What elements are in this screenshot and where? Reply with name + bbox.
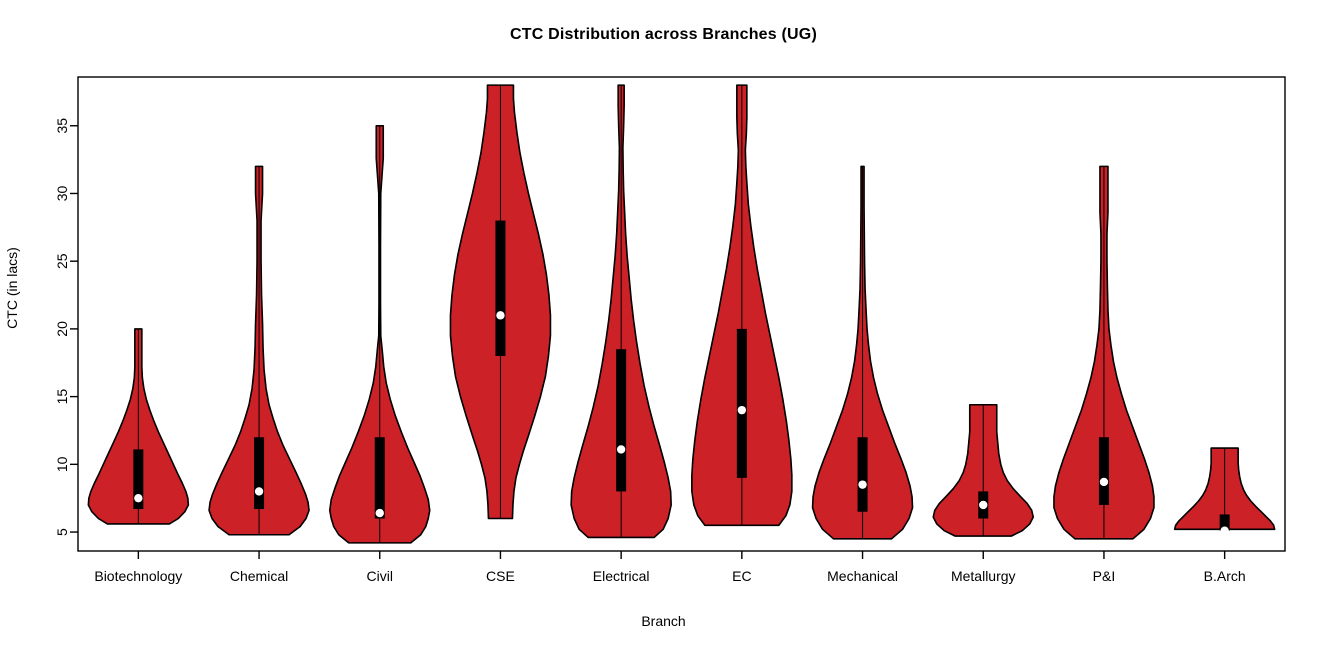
violin-biotechnology (88, 329, 188, 524)
violin-ec (692, 85, 792, 525)
violin-iqr-box (858, 437, 868, 511)
violin-iqr-box (254, 437, 264, 509)
violin-iqr-box (616, 349, 626, 491)
x-axis-tick-label: Chemical (230, 568, 288, 584)
y-axis-tick-label: 5 (54, 528, 70, 536)
y-axis-tick-label: 25 (54, 253, 70, 269)
violin-civil (330, 126, 430, 543)
violin-iqr-box (1099, 437, 1109, 505)
x-axis-tick-label: B.Arch (1204, 568, 1246, 584)
violin-chart-canvas: 5101520253035 BiotechnologyChemicalCivil… (0, 0, 1327, 653)
violin-median-point (1100, 478, 1108, 486)
violin-chemical (209, 166, 309, 534)
violin-median-point (979, 501, 987, 509)
violin-median-point (738, 406, 746, 414)
x-axis: BiotechnologyChemicalCivilCSEElectricalE… (94, 551, 1245, 584)
x-axis-tick-label: Metallurgy (951, 568, 1016, 584)
violin-mechanical (813, 166, 913, 538)
violin-iqr-box (495, 221, 505, 356)
violin-b-arch (1175, 448, 1275, 535)
violin-median-point (617, 445, 625, 453)
violin-median-point (134, 494, 142, 502)
y-axis-tick-label: 15 (54, 389, 70, 405)
violin-median-point (496, 311, 504, 319)
violin-median-point (255, 487, 263, 495)
violin-median-point (1220, 526, 1228, 534)
x-axis-tick-label: Mechanical (827, 568, 898, 584)
violin-median-point (376, 509, 384, 517)
violin-electrical (571, 85, 671, 537)
y-axis: 5101520253035 (54, 118, 78, 536)
x-axis-tick-label: EC (732, 568, 751, 584)
x-axis-tick-label: Civil (367, 568, 393, 584)
y-axis-tick-label: 10 (54, 456, 70, 472)
x-axis-tick-label: Biotechnology (94, 568, 182, 584)
x-axis-tick-label: Electrical (593, 568, 650, 584)
x-axis-tick-label: P&I (1093, 568, 1116, 584)
violin-iqr-box (737, 329, 747, 478)
violin-cse (450, 85, 550, 518)
violin-plot-figure: CTC Distribution across Branches (UG) CT… (0, 0, 1327, 653)
violin-iqr-box (375, 437, 385, 518)
y-axis-tick-label: 35 (54, 118, 70, 134)
y-axis-tick-label: 30 (54, 185, 70, 201)
violin-p-i (1054, 166, 1154, 538)
violin-metallurgy (933, 405, 1033, 536)
y-axis-tick-label: 20 (54, 321, 70, 337)
violin-series (88, 85, 1274, 543)
x-axis-tick-label: CSE (486, 568, 515, 584)
violin-median-point (858, 480, 866, 488)
